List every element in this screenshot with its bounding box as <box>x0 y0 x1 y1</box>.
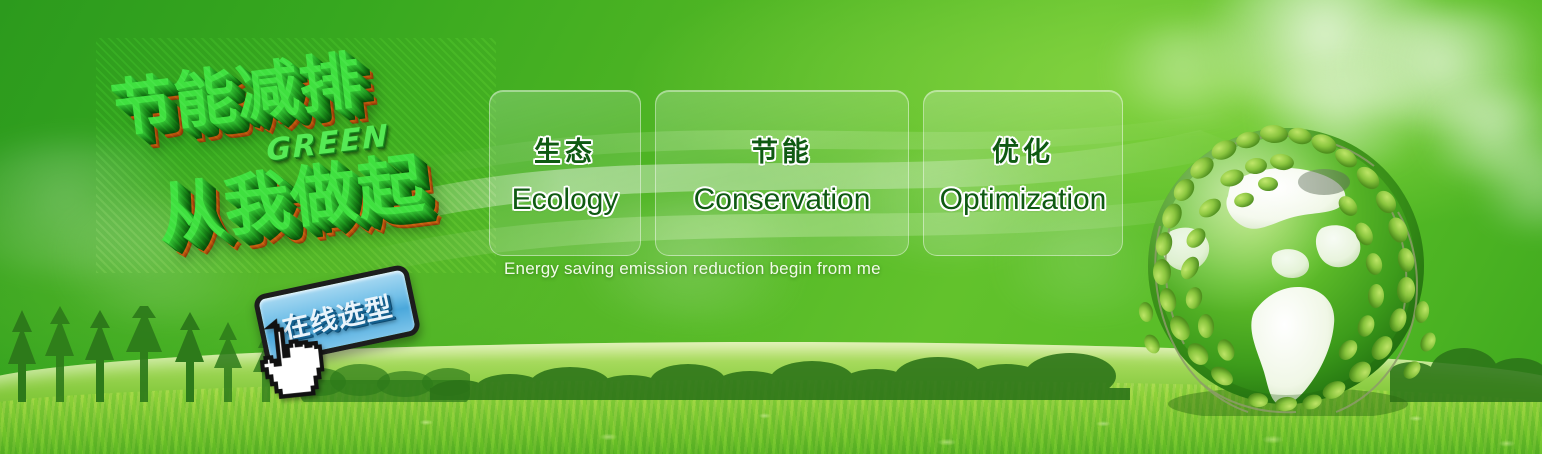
feature-card-ecology[interactable]: 生态 Ecology <box>489 90 641 256</box>
feature-card-en-label: Ecology <box>512 183 619 217</box>
leafy-earth-globe-icon <box>1136 116 1436 416</box>
cloud-icon <box>1100 24 1285 116</box>
pointing-hand-cursor-icon <box>239 314 327 406</box>
cloud-icon <box>1470 150 1542 230</box>
headline-3d: 节能减排 GREEN 从我做起 <box>96 38 496 273</box>
eco-banner: 节能减排 GREEN 从我做起 在线选型 生态 Ecology 节能 Conse… <box>0 0 1542 454</box>
cloud-icon <box>1190 0 1490 116</box>
cloud-icon <box>1330 10 1542 128</box>
banner-tagline: Energy saving emission reduction begin f… <box>504 259 881 279</box>
feature-card-en-label: Optimization <box>940 183 1107 217</box>
feature-card-en-label: Conservation <box>694 183 871 217</box>
feature-card-cn-label: 优化 <box>992 130 1054 169</box>
feature-card-optimization[interactable]: 优化 Optimization <box>923 90 1123 256</box>
feature-card-conservation[interactable]: 节能 Conservation <box>655 90 909 256</box>
feature-card-cn-label: 生态 <box>534 130 596 169</box>
feature-card-list: 生态 Ecology 节能 Conservation 优化 Optimizati… <box>489 90 1123 256</box>
feature-card-cn-label: 节能 <box>751 130 813 169</box>
